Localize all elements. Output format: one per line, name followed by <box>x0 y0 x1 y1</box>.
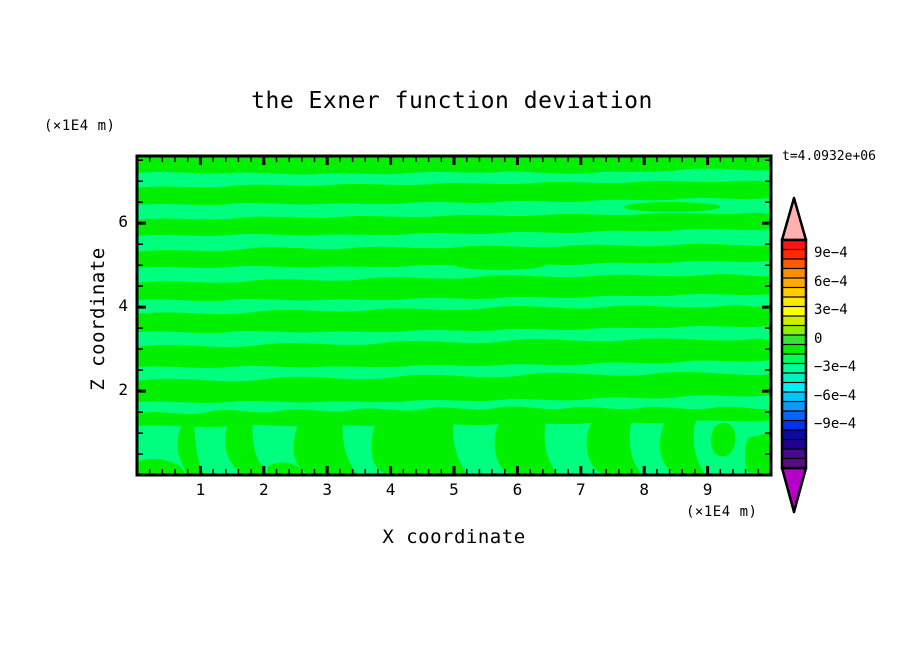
colorbar[interactable] <box>782 198 806 512</box>
contour-blob <box>428 350 512 360</box>
contour-blob <box>455 260 545 270</box>
x-tick-label: 4 <box>371 480 411 499</box>
colorbar-tick-label: 9e−4 <box>814 245 848 261</box>
colorbar-tick-label: 3e−4 <box>814 302 848 318</box>
colorbar-band-stack <box>782 240 806 468</box>
colorbar-tick-label: 0 <box>814 331 822 347</box>
x-tick-label: 6 <box>497 480 537 499</box>
colorbar-tick-label: −3e−4 <box>814 359 856 375</box>
colorbar-tick-label: −9e−4 <box>814 416 856 432</box>
colorbar-band <box>782 297 806 307</box>
colorbar-band <box>782 316 806 326</box>
x-tick-label: 2 <box>244 480 284 499</box>
colorbar-band <box>782 430 806 440</box>
colorbar-band <box>782 326 806 336</box>
contour-blob <box>600 345 680 355</box>
colorbar-tick-label: −6e−4 <box>814 388 856 404</box>
y-tick-label: 6 <box>100 212 128 231</box>
y-tick-label: 2 <box>100 380 128 399</box>
x-tick-label: 3 <box>307 480 347 499</box>
page-title: the Exner function deviation <box>0 88 904 114</box>
colorbar-band <box>782 449 806 459</box>
x-tick-label: 7 <box>561 480 601 499</box>
colorbar-band <box>782 392 806 402</box>
time-stamp-label: t=4.0932e+06 <box>782 149 876 164</box>
colorbar-band <box>782 345 806 355</box>
colorbar-band <box>782 288 806 298</box>
y-axis-unit-label: (×1E4 m) <box>44 118 115 134</box>
colorbar-band <box>782 259 806 269</box>
x-tick-label: 8 <box>624 480 664 499</box>
x-tick-label: 1 <box>180 480 220 499</box>
colorbar-band <box>782 240 806 250</box>
colorbar-band <box>782 278 806 288</box>
colorbar-tick-label: 6e−4 <box>814 274 848 290</box>
colorbar-band <box>782 421 806 431</box>
x-axis-title: X coordinate <box>136 526 772 548</box>
colorbar-band <box>782 440 806 450</box>
x-axis-unit-label: (×1E4 m) <box>686 504 757 520</box>
contour-blob <box>668 247 744 257</box>
y-axis-title: Z coordinate <box>87 199 109 439</box>
x-tick-label: 9 <box>688 480 728 499</box>
plot-area <box>137 156 771 475</box>
colorbar-band <box>782 411 806 421</box>
colorbar-band <box>782 269 806 279</box>
colorbar-band <box>782 402 806 412</box>
contour-blob <box>624 202 720 212</box>
x-tick-label: 5 <box>434 480 474 499</box>
colorbar-band <box>782 364 806 374</box>
colorbar-band <box>782 307 806 317</box>
colorbar-band <box>782 383 806 393</box>
colorbar-band <box>782 335 806 345</box>
colorbar-band <box>782 373 806 383</box>
y-tick-label: 4 <box>100 296 128 315</box>
colorbar-band <box>782 250 806 260</box>
colorbar-band <box>782 354 806 364</box>
